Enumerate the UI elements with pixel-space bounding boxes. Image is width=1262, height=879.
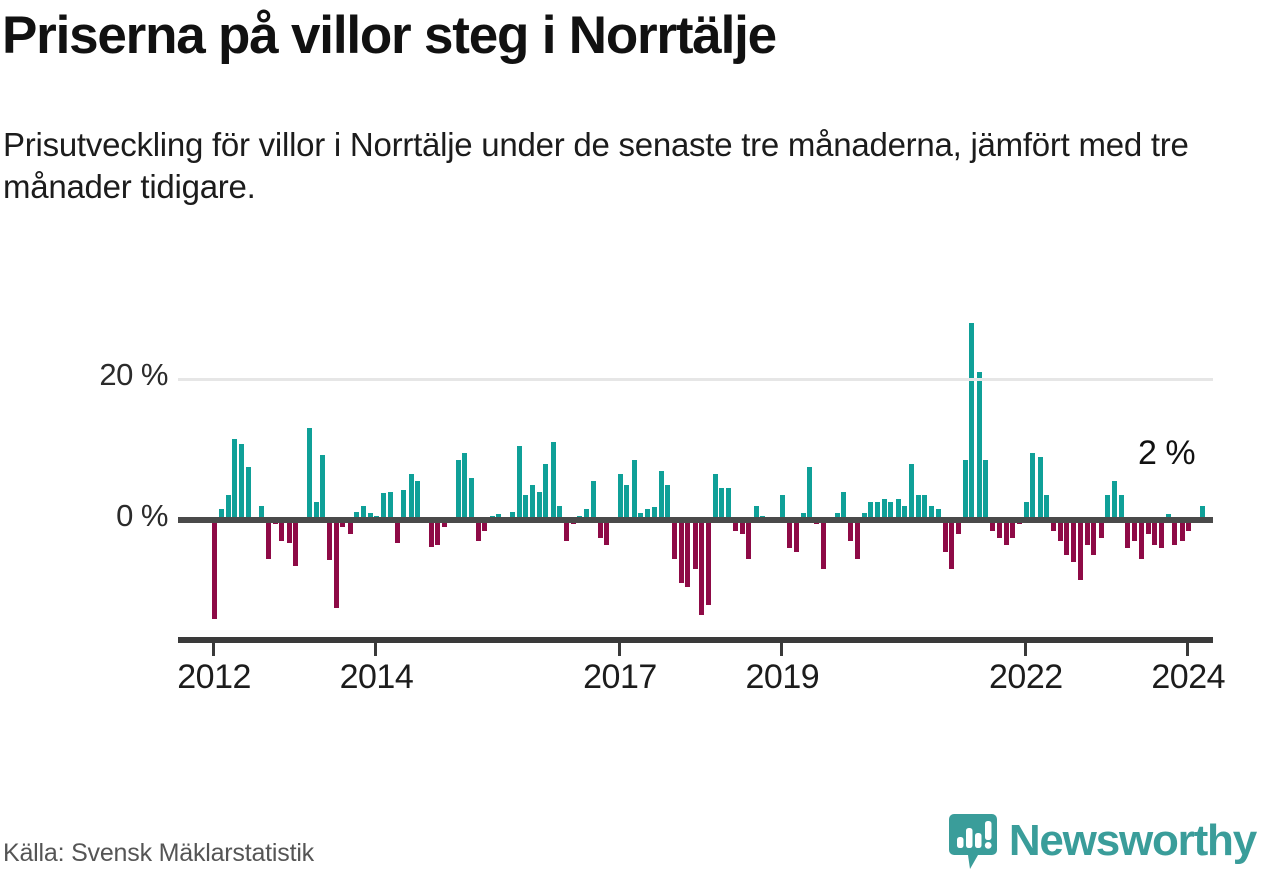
chart-page: Priserna på villor steg i Norrtälje Pris…: [0, 0, 1262, 879]
bar: [699, 520, 704, 615]
bar: [949, 520, 954, 569]
bar: [1180, 520, 1185, 541]
bar: [415, 481, 420, 520]
bar: [517, 446, 522, 520]
x-axis-label-2019: 2019: [746, 658, 820, 697]
y-axis-label-0: 0 %: [116, 498, 168, 534]
bar: [693, 520, 698, 569]
chart-container: 0 %20 % 2012201420172019202220242 %: [0, 300, 1262, 720]
bar: [1172, 520, 1177, 545]
bar: [604, 520, 609, 545]
bar: [1064, 520, 1069, 555]
last-value-annotation: 2 %: [1138, 434, 1195, 473]
bar: [787, 520, 792, 548]
bar: [1058, 520, 1063, 541]
bar: [1071, 520, 1076, 562]
bar: [855, 520, 860, 559]
bar: [266, 520, 271, 559]
bar: [320, 455, 325, 520]
bar: [719, 488, 724, 520]
bar: [293, 520, 298, 566]
bar: [1085, 520, 1090, 545]
bar: [665, 485, 670, 520]
bar: [212, 520, 217, 619]
bar: [685, 520, 690, 587]
bar: [476, 520, 481, 541]
bar: [543, 464, 548, 520]
bar: [239, 444, 244, 520]
bar: [807, 467, 812, 520]
bar: [1159, 520, 1164, 548]
bar: [564, 520, 569, 541]
bar: [706, 520, 711, 605]
bar: [943, 520, 948, 552]
x-axis-label-2012: 2012: [177, 658, 251, 697]
bar: [388, 492, 393, 520]
bar: [794, 520, 799, 552]
x-axis-label-2024: 2024: [1151, 658, 1225, 697]
x-axis-tick-2022: [1024, 643, 1027, 656]
bar: [1112, 481, 1117, 520]
bar: [1139, 520, 1144, 559]
bar: [327, 520, 332, 560]
bar: [462, 453, 467, 520]
bar: [1152, 520, 1157, 545]
bar: [632, 460, 637, 520]
bar: [1125, 520, 1130, 548]
x-axis-label-2022: 2022: [989, 658, 1063, 697]
bar: [456, 460, 461, 520]
bar: [381, 493, 386, 520]
bar: [429, 520, 434, 547]
bar: [435, 520, 440, 545]
bar: [279, 520, 284, 541]
bar: [1078, 520, 1083, 580]
y-axis-labels: 0 %20 %: [0, 300, 168, 640]
bar: [530, 485, 535, 520]
x-axis-tick-2014: [374, 643, 377, 656]
bar: [551, 442, 556, 520]
gridline-20: [178, 378, 1213, 381]
bar: [821, 520, 826, 569]
bar: [726, 488, 731, 520]
bar: [1038, 457, 1043, 520]
bar-series: [178, 300, 1213, 640]
bar: [977, 372, 982, 520]
bar: [537, 492, 542, 520]
brand-logo: Newsworthy: [948, 812, 1256, 870]
bar: [1132, 520, 1137, 541]
bar: [1030, 453, 1035, 520]
x-axis-tick-2024: [1186, 643, 1189, 656]
bar: [963, 460, 968, 520]
bar: [983, 460, 988, 520]
bar: [679, 520, 684, 583]
bar: [1004, 520, 1009, 545]
bar: [334, 520, 339, 608]
bar: [672, 520, 677, 559]
source-note: Källa: Svensk Mäklarstatistik: [3, 839, 314, 868]
x-axis-label-2014: 2014: [340, 658, 414, 697]
bar: [395, 520, 400, 543]
bar: [909, 464, 914, 520]
x-axis-tick-2012: [212, 643, 215, 656]
page-title: Priserna på villor steg i Norrtälje: [2, 8, 1242, 64]
bar: [624, 485, 629, 520]
y-axis-label-20: 20 %: [99, 357, 168, 393]
bar: [618, 474, 623, 520]
bar: [969, 323, 974, 520]
bar: [287, 520, 292, 543]
x-axis-tick-2017: [618, 643, 621, 656]
plot-area: [178, 300, 1213, 640]
bar: [401, 490, 406, 520]
bar: [848, 520, 853, 541]
bar: [1091, 520, 1096, 555]
brand-name: Newsworthy: [1009, 819, 1256, 863]
newsworthy-bubble-barchart-icon: [948, 812, 998, 870]
x-axis-label-2017: 2017: [583, 658, 657, 697]
bar: [469, 478, 474, 520]
x-axis-tick-2019: [780, 643, 783, 656]
bar: [713, 474, 718, 520]
zero-axis-line: [178, 517, 1213, 523]
bar: [246, 467, 251, 520]
bar: [307, 428, 312, 520]
bar: [659, 471, 664, 520]
x-axis-line: [178, 637, 1213, 643]
bar: [841, 492, 846, 520]
bar: [409, 474, 414, 520]
bar: [232, 439, 237, 520]
bar: [746, 520, 751, 559]
bar: [591, 481, 596, 520]
page-subtitle: Prisutveckling för villor i Norrtälje un…: [3, 124, 1218, 208]
